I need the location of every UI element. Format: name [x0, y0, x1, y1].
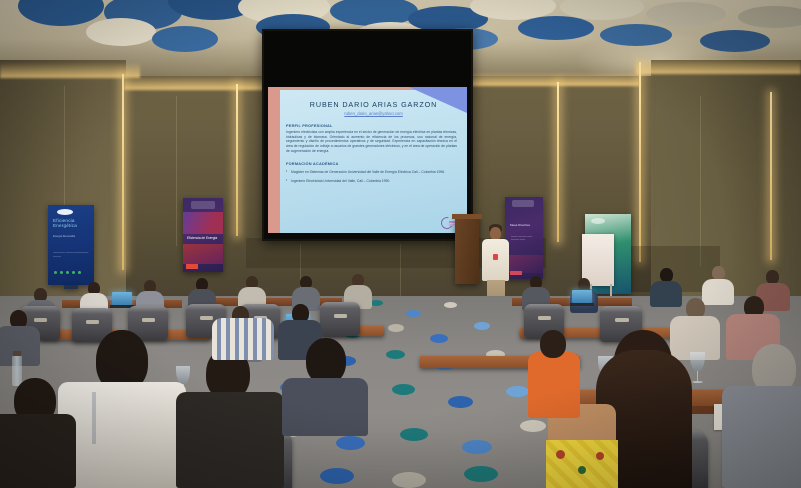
- chair-label-tag: [334, 314, 347, 318]
- attendee-head: [540, 330, 566, 358]
- laptop-screen: [112, 292, 132, 305]
- attendee-torso-foreground: [176, 392, 284, 488]
- laptop-base: [570, 303, 594, 306]
- chair-label-tag: [86, 320, 99, 324]
- banner-congreso-center: Eficiencia de Energía: [183, 198, 223, 272]
- slide-section-heading-education: FORMACIÓN ACADÉMICA: [286, 161, 461, 166]
- carpet-dot: [392, 472, 426, 488]
- attendee-plaid-shirt: [212, 318, 274, 360]
- screen-masking-top: [264, 31, 471, 87]
- carpet-dot: [444, 302, 457, 308]
- attendee-torso-foreground: [58, 382, 186, 488]
- banner-center-title: Eficiencia de Energía: [187, 236, 219, 241]
- wall-light-column: [557, 82, 559, 242]
- carpet-dot: [400, 428, 428, 441]
- attendee-torso: [282, 378, 368, 436]
- wall-panel-seam: [700, 96, 701, 266]
- banner-left-subtitle: Energía Renovable: [53, 235, 91, 239]
- floral-motif: [596, 452, 604, 460]
- carpet-dot: [392, 384, 415, 395]
- banner-stage-right-body: ▁▁▁▁ ▁▁▁▁▁ ▁▁▁ ▁▁▁▁▁ ▁▁▁: [511, 235, 537, 242]
- attendee-head: [660, 268, 673, 282]
- slide-bullet-masters: Magister en Sistemas de Generación Unive…: [286, 170, 461, 175]
- conference-room-photo: RUBEN DARIO ARIAS GARZON ruben_dario_ari…: [0, 0, 801, 488]
- carpet-dot: [474, 322, 490, 330]
- ceiling-cove-light: [124, 76, 264, 90]
- banner-left-stand: [64, 285, 78, 289]
- wall-light-column: [639, 62, 641, 262]
- attendee-head: [712, 266, 725, 280]
- ceiling-oval-panel: [152, 26, 218, 52]
- podium-top: [452, 214, 482, 219]
- wall-light-column: [770, 92, 772, 260]
- ceiling-cove-light: [0, 62, 140, 78]
- attendee-yellow-floral-top: [546, 440, 618, 488]
- ceiling-oval-panel: [600, 24, 672, 46]
- attendee-torso-foreground: [722, 386, 801, 488]
- carpet-dot: [464, 466, 498, 482]
- speaker-shirt: [482, 239, 509, 281]
- banner-stage-right-title: Mesa Directiva: [510, 223, 538, 228]
- attendee-orange-top: [528, 352, 580, 418]
- presentation-slide: RUBEN DARIO ARIAS GARZON ruben_dario_ari…: [268, 87, 467, 233]
- carpet-dot: [320, 468, 354, 484]
- attendee-torso: [702, 279, 734, 305]
- chair-label-tag: [142, 318, 155, 322]
- ceiling-oval-panel: [86, 18, 156, 46]
- slide-left-band: [268, 87, 280, 233]
- chair-label-tag: [538, 316, 551, 320]
- chair: [320, 302, 360, 336]
- ceiling-oval-panel: [518, 16, 594, 40]
- floral-motif: [556, 450, 565, 459]
- chair-label-tag: [615, 318, 629, 322]
- podium: [455, 216, 479, 284]
- bottle-cap: [13, 351, 21, 356]
- carpet-dot: [386, 350, 405, 359]
- carpet-dot: [430, 334, 448, 343]
- shirt-placket: [92, 392, 96, 444]
- wall-light-column: [236, 84, 238, 236]
- ceiling-oval-panel: [700, 30, 770, 52]
- banner-left-title: Eficiencia Energética: [53, 218, 93, 228]
- wall-light-column: [122, 74, 124, 270]
- speaker-name-badge: [493, 254, 498, 260]
- slide-section-heading-profile: PERFIL PROFESIONAL: [286, 123, 461, 128]
- ceiling-oval-panel: [646, 2, 726, 26]
- slide-bullet-engineering: Ingeniero Electricista Universidad del V…: [286, 179, 461, 184]
- banner-left-body: ▁▁▁▁▁▁ ▁▁▁▁ ▁▁▁▁▁▁▁ ▁▁▁▁: [53, 250, 91, 258]
- wine-glass-inverted: [690, 352, 705, 386]
- carpet-dot: [462, 440, 492, 454]
- floral-motif: [578, 466, 586, 474]
- chair-label-tag: [200, 316, 213, 320]
- carpet-dot: [406, 310, 421, 317]
- attendee-torso: [650, 281, 682, 307]
- slide-title: RUBEN DARIO ARIAS GARZON: [286, 100, 461, 109]
- carpet-dot: [448, 396, 473, 408]
- slide-email-link: ruben_dario_arias@yahoo.com: [286, 111, 461, 116]
- water-bottle: [12, 356, 22, 386]
- carpet-dot: [336, 436, 365, 450]
- ceiling-cove-light: [470, 72, 640, 86]
- laptop-screen: [572, 290, 592, 303]
- chair-label-tag: [34, 318, 47, 322]
- carpet-dot: [506, 386, 529, 397]
- slide-profile-text: Ingeniero electricista con amplia experi…: [286, 130, 461, 153]
- banner-eficiencia-energetica: Eficiencia Energética Energía Renovable …: [48, 205, 94, 285]
- attendee-head: [766, 270, 779, 284]
- projection-screen: RUBEN DARIO ARIAS GARZON ruben_dario_ari…: [262, 29, 473, 241]
- attendee-torso-foreground: [0, 414, 76, 488]
- carpet-dot: [520, 420, 546, 432]
- banner-left-dots: [54, 271, 81, 274]
- wall-panel-seam: [176, 96, 177, 246]
- ceiling-cove-light: [636, 58, 801, 74]
- carpet-dot: [388, 324, 404, 332]
